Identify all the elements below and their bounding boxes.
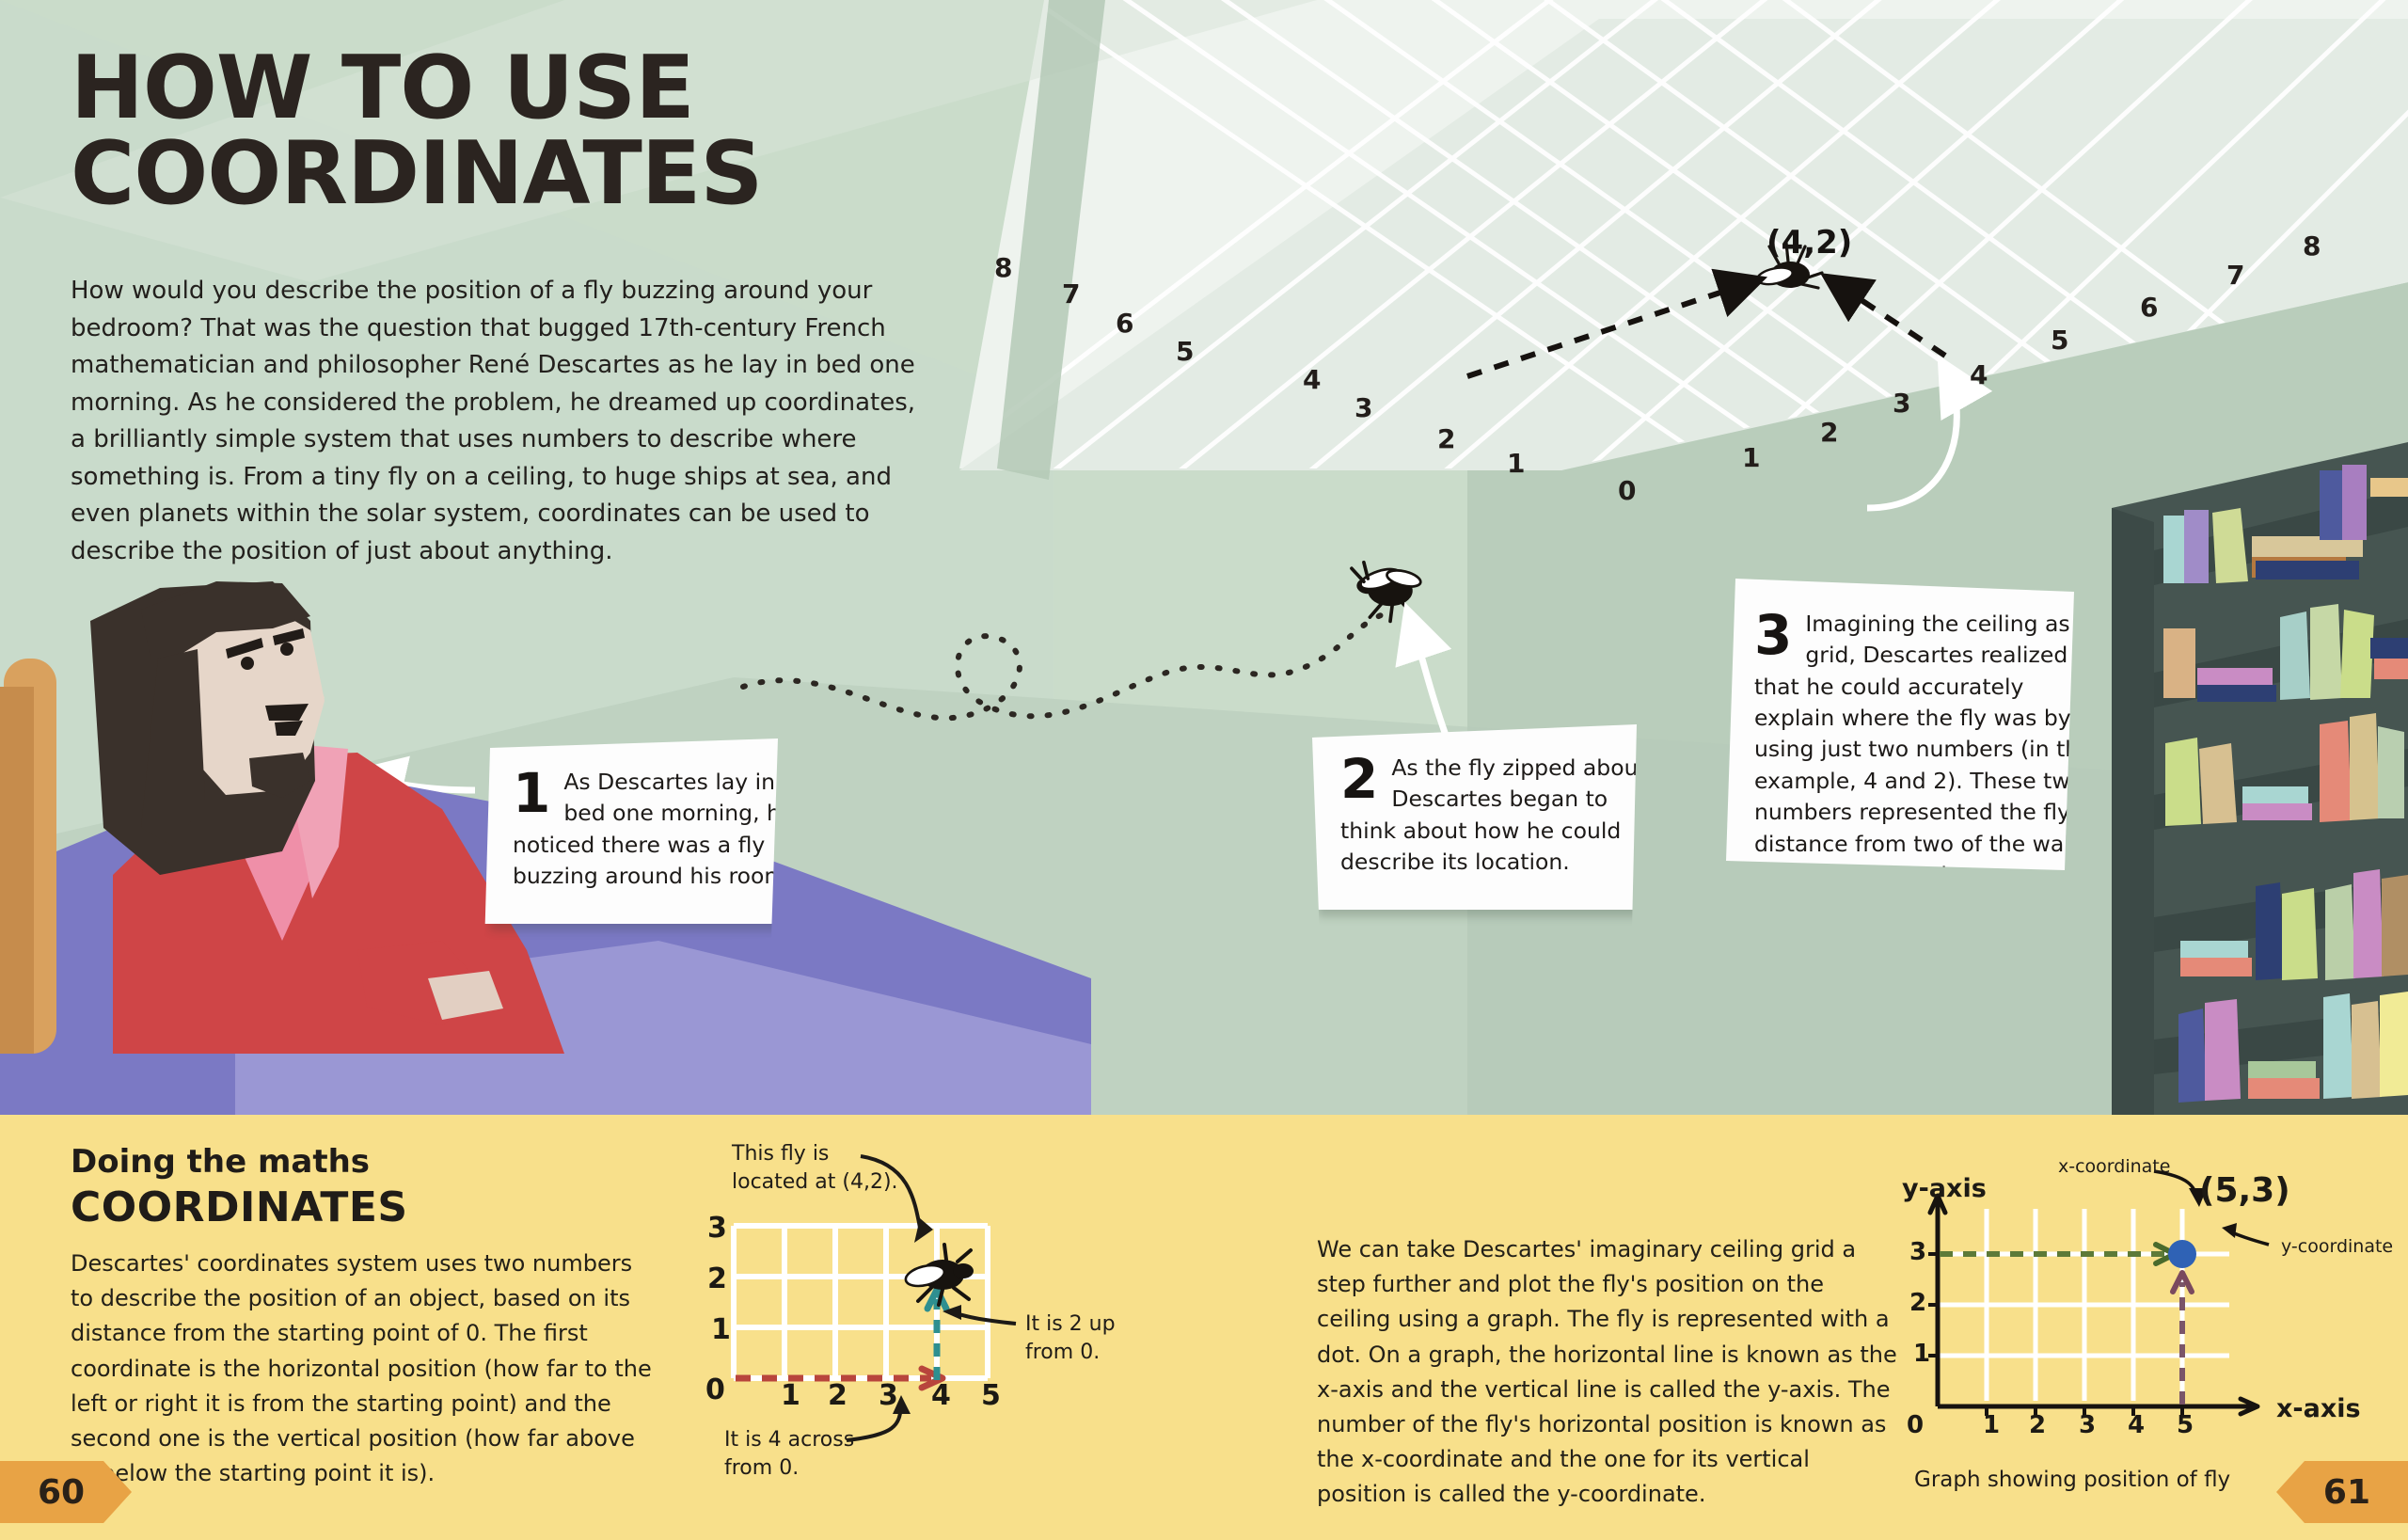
ceiling-left-label-7: 7	[1062, 278, 1080, 310]
panel-title: COORDINATES	[71, 1183, 408, 1231]
fly-grid-annotation-bottom: It is 4 across from 0.	[724, 1426, 884, 1482]
page-title-line1: HOW TO USE	[71, 45, 785, 131]
graph-ticks	[1928, 1254, 2182, 1416]
fly-grid-y-1: 1	[711, 1313, 731, 1346]
ceiling-right-label-7: 7	[2226, 260, 2244, 291]
fly-grid-y-3: 3	[707, 1212, 727, 1245]
ceiling-left-label-8: 8	[994, 252, 1012, 283]
fly-grid-annotation-right: It is 2 up from 0.	[1025, 1310, 1166, 1366]
callout-text-3: Imagining the ceiling as a grid, Descart…	[1754, 609, 2102, 891]
graph-x-3: 3	[2079, 1411, 2096, 1439]
graph-gridlines	[1938, 1209, 2229, 1401]
callout-text-1: As Descartes lay in bed one morning, he …	[513, 767, 806, 892]
ceiling-left-label-6: 6	[1116, 308, 1133, 339]
callout-number-1: 1	[513, 769, 550, 818]
ceiling-left-label-3: 3	[1354, 392, 1372, 423]
fly-coordinate-label: (4,2)	[1766, 224, 1852, 262]
ceiling-left-label-4: 4	[1303, 364, 1321, 395]
callout-note-2: 2 As the fly zipped about, Descartes beg…	[1312, 724, 1689, 910]
callout-text-2: As the fly zipped about, Descartes began…	[1340, 753, 1665, 878]
graph-x-4: 4	[2128, 1411, 2145, 1439]
panel-text-right: We can take Descartes' imaginary ceiling…	[1317, 1232, 1900, 1513]
panel-text-left: Descartes' coordinates system uses two n…	[71, 1246, 654, 1491]
panel-eyebrow: Doing the maths	[71, 1143, 370, 1181]
ceiling-grid	[884, 0, 2408, 527]
graph-caption: Graph showing position of fly	[1914, 1468, 2230, 1492]
fly-grid-lines	[734, 1226, 988, 1378]
fly-grid-y-2: 2	[707, 1262, 727, 1295]
graph-x-axis-label: x-axis	[2276, 1394, 2361, 1423]
bedroom-scene: 8 7 6 5 4 3 2 1 0 1 2 3 4 5 6 7 8 (4,2) …	[0, 0, 2408, 1119]
y-coordinate-annotation-arrowhead	[2222, 1223, 2237, 1238]
ceiling-origin-label: 0	[1618, 475, 1636, 506]
graph-y-1: 1	[1913, 1340, 1930, 1368]
fly-grid-x-3: 3	[879, 1379, 898, 1412]
page-number-left: 60	[0, 1461, 132, 1523]
graph-x-2: 2	[2029, 1411, 2046, 1439]
data-point-5-3	[2168, 1240, 2196, 1268]
graph-x-5: 5	[2177, 1411, 2194, 1439]
ceiling-left-label-5: 5	[1176, 336, 1194, 367]
intro-paragraph: How would you describe the position of a…	[71, 273, 917, 570]
bookshelf	[2112, 442, 2408, 1115]
graph-point-label: (5,3)	[2199, 1171, 2290, 1210]
ceiling-left-label-1: 1	[1507, 448, 1525, 479]
page-title-line2: COORDINATES	[71, 131, 785, 216]
pointer-arrow-to-fly	[1411, 621, 1449, 743]
graph-y-axis-label: y-axis	[1902, 1174, 1987, 1203]
graph-origin: 0	[1907, 1411, 1924, 1439]
graph-y-coordinate-label: y-coordinate	[2281, 1235, 2393, 1259]
ceiling-right-label-5: 5	[2051, 325, 2068, 356]
graph-y-3: 3	[1909, 1238, 1926, 1266]
fly-in-room	[1352, 563, 1422, 622]
ceiling-right-label-3: 3	[1893, 388, 1910, 419]
page-title: HOW TO USE COORDINATES	[71, 45, 785, 216]
fly-grid-x-2: 2	[828, 1379, 848, 1412]
callout-number-2: 2	[1340, 754, 1378, 804]
graph-x-1: 1	[1983, 1411, 2000, 1439]
fly-grid-x-1: 1	[781, 1379, 800, 1412]
ceiling-right-label-4: 4	[1970, 359, 1988, 390]
graph-x-coordinate-label: x-coordinate	[2058, 1155, 2170, 1179]
fly-grid-x-4: 4	[931, 1379, 951, 1412]
page-number-right: 61	[2276, 1461, 2408, 1523]
fly-trail	[743, 611, 1392, 718]
ceiling-left-label-2: 2	[1437, 423, 1455, 454]
ceiling-right-label-6: 6	[2140, 292, 2158, 323]
spread-page: 8 7 6 5 4 3 2 1 0 1 2 3 4 5 6 7 8 (4,2) …	[0, 0, 2408, 1540]
ceiling-rail-left	[997, 0, 1105, 480]
graph-y-2: 2	[1909, 1289, 1926, 1317]
fly-grid-x-5: 5	[981, 1379, 1001, 1412]
annotation-curve-right	[952, 1312, 1016, 1324]
ceiling-right-label-8: 8	[2303, 230, 2321, 262]
ceiling-right-label-2: 2	[1820, 417, 1838, 448]
fly-grid-origin: 0	[705, 1373, 725, 1406]
ceiling-right-label-1: 1	[1742, 442, 1760, 473]
fly-grid-annotation-top: This fly is located at (4,2).	[732, 1140, 911, 1196]
callout-number-3: 3	[1754, 611, 1792, 660]
